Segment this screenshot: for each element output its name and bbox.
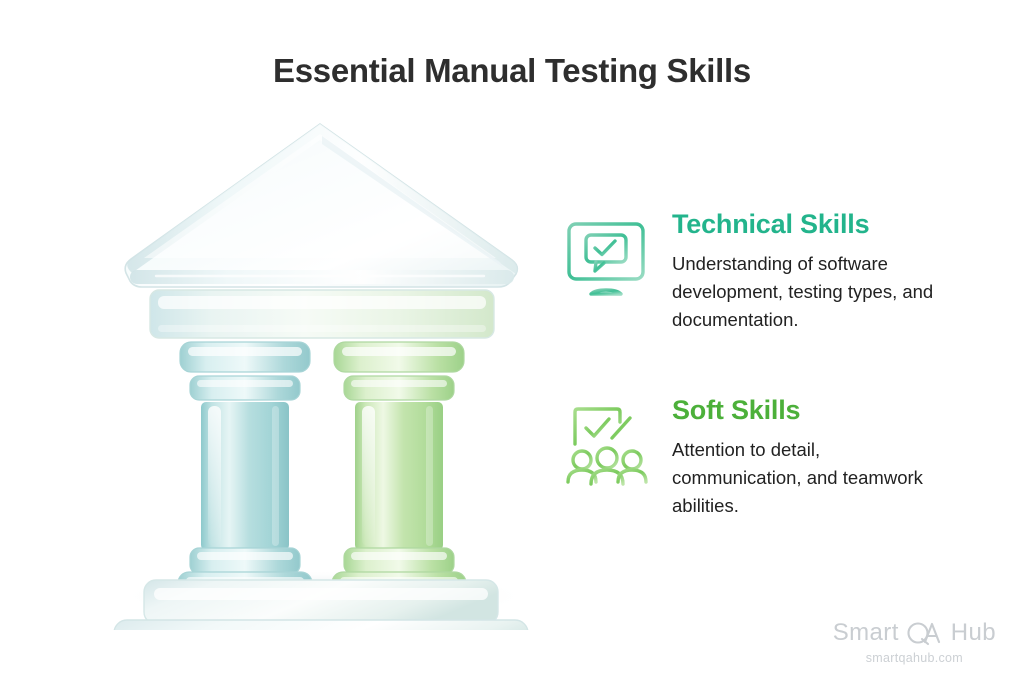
skill-heading-technical: Technical Skills (672, 210, 972, 240)
monitor-check-icon (562, 216, 654, 304)
skill-block-soft: Soft Skills Attention to detail, communi… (562, 396, 972, 520)
skill-heading-soft: Soft Skills (672, 396, 972, 426)
architrave-beam (150, 290, 494, 338)
watermark-brand-right: Hub (951, 619, 996, 647)
skill-text-technical: Technical Skills Understanding of softwa… (672, 210, 972, 334)
glass-temple-illustration (96, 110, 546, 630)
pedestal-steps (114, 580, 528, 630)
skill-text-soft: Soft Skills Attention to detail, communi… (672, 396, 972, 520)
page-title: Essential Manual Testing Skills (0, 52, 1024, 90)
skill-block-technical: Technical Skills Understanding of softwa… (562, 210, 972, 334)
skill-description-technical: Understanding of software development, t… (672, 250, 952, 334)
watermark: Smart Hub smartqahub.com (833, 619, 996, 665)
qa-monogram-icon (904, 620, 946, 646)
people-checklist-icon (562, 402, 654, 490)
skills-list: Technical Skills Understanding of softwa… (562, 210, 972, 558)
skill-description-soft: Attention to detail, communication, and … (672, 436, 952, 520)
left-pillar (178, 342, 312, 600)
right-pillar (332, 342, 466, 600)
watermark-brand-left: Smart (833, 619, 899, 647)
watermark-url: smartqahub.com (833, 651, 996, 665)
watermark-brand: Smart Hub (833, 619, 996, 647)
pediment-roof (125, 124, 517, 287)
